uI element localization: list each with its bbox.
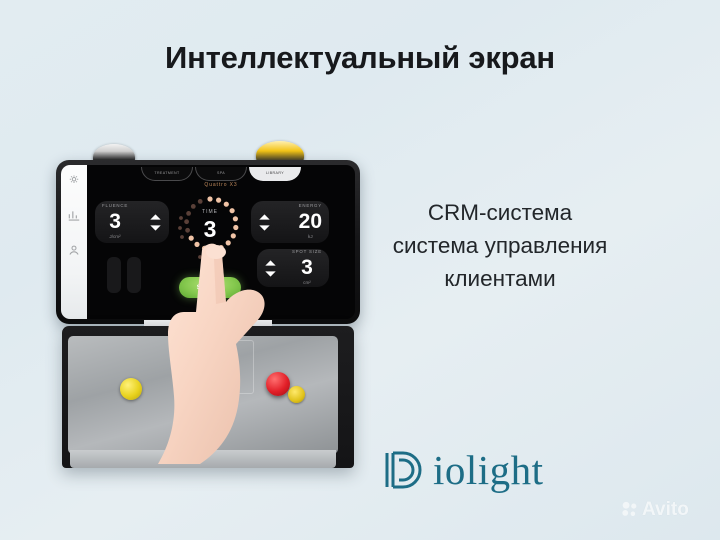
energy-stepper[interactable] (258, 213, 271, 232)
yellow-key-switch[interactable] (120, 378, 142, 400)
tab-spa[interactable]: SPA (195, 167, 247, 181)
avito-watermark: Avito (621, 500, 689, 519)
page-title: Интеллектуальный экран (0, 40, 720, 76)
chevron-up-icon (149, 213, 162, 221)
avito-dots-icon (621, 501, 638, 518)
spot-size-value: 3 (301, 257, 313, 278)
description-line-3: клиентами (350, 262, 650, 295)
chart-icon[interactable] (67, 209, 81, 226)
energy-readout: ENERGY 20 kJ (299, 204, 322, 240)
energy-value: 20 (299, 211, 322, 232)
screen-tab-bar[interactable]: TREATMENT SPA LIBRARY (87, 165, 355, 181)
settings-icon[interactable] (67, 174, 81, 191)
time-label: TIME (202, 209, 218, 215)
spot-size-label: SPOT SIZE (292, 250, 322, 254)
fluence-label: FLUENCE (102, 204, 128, 208)
d-monogram-icon (378, 447, 424, 493)
avito-watermark-text: Avito (642, 500, 689, 519)
description-line-1: CRM-система (350, 196, 650, 229)
energy-control[interactable]: ENERGY 20 kJ (251, 201, 329, 243)
chevron-down-icon (149, 224, 162, 232)
chevron-up-icon (258, 213, 271, 221)
user-icon[interactable] (67, 244, 81, 261)
yellow-indicator-ring (288, 386, 305, 403)
tab-library[interactable]: LIBRARY (249, 167, 301, 181)
fluence-unit: J/cm² (109, 235, 120, 240)
brand-logo: iolight (378, 447, 544, 493)
tab-treatment[interactable]: TREATMENT (141, 167, 193, 181)
chevron-down-icon (258, 224, 271, 232)
spot-size-unit: cm² (303, 281, 311, 286)
energy-label: ENERGY (299, 204, 322, 208)
screen-sidebar[interactable] (61, 165, 87, 319)
description-block: CRM-система система управления клиентами (350, 196, 650, 295)
slide-canvas: Интеллектуальный экран CRM-система систе… (0, 0, 720, 540)
fluence-stepper[interactable] (149, 213, 162, 232)
hand-pointing (144, 238, 284, 468)
fluence-control[interactable]: FLUENCE 3 J/cm² (95, 201, 169, 243)
fluence-readout: FLUENCE 3 J/cm² (102, 204, 128, 240)
brand-name: iolight (433, 450, 544, 491)
laser-device-photo: TREATMENT SPA LIBRARY Quattro X3 FLUENCE (48, 138, 368, 468)
description-line-2: система управления (350, 229, 650, 262)
spot-size-readout: SPOT SIZE 3 cm² (292, 250, 322, 286)
fluence-value: 3 (109, 211, 121, 232)
energy-unit: kJ (308, 235, 313, 240)
